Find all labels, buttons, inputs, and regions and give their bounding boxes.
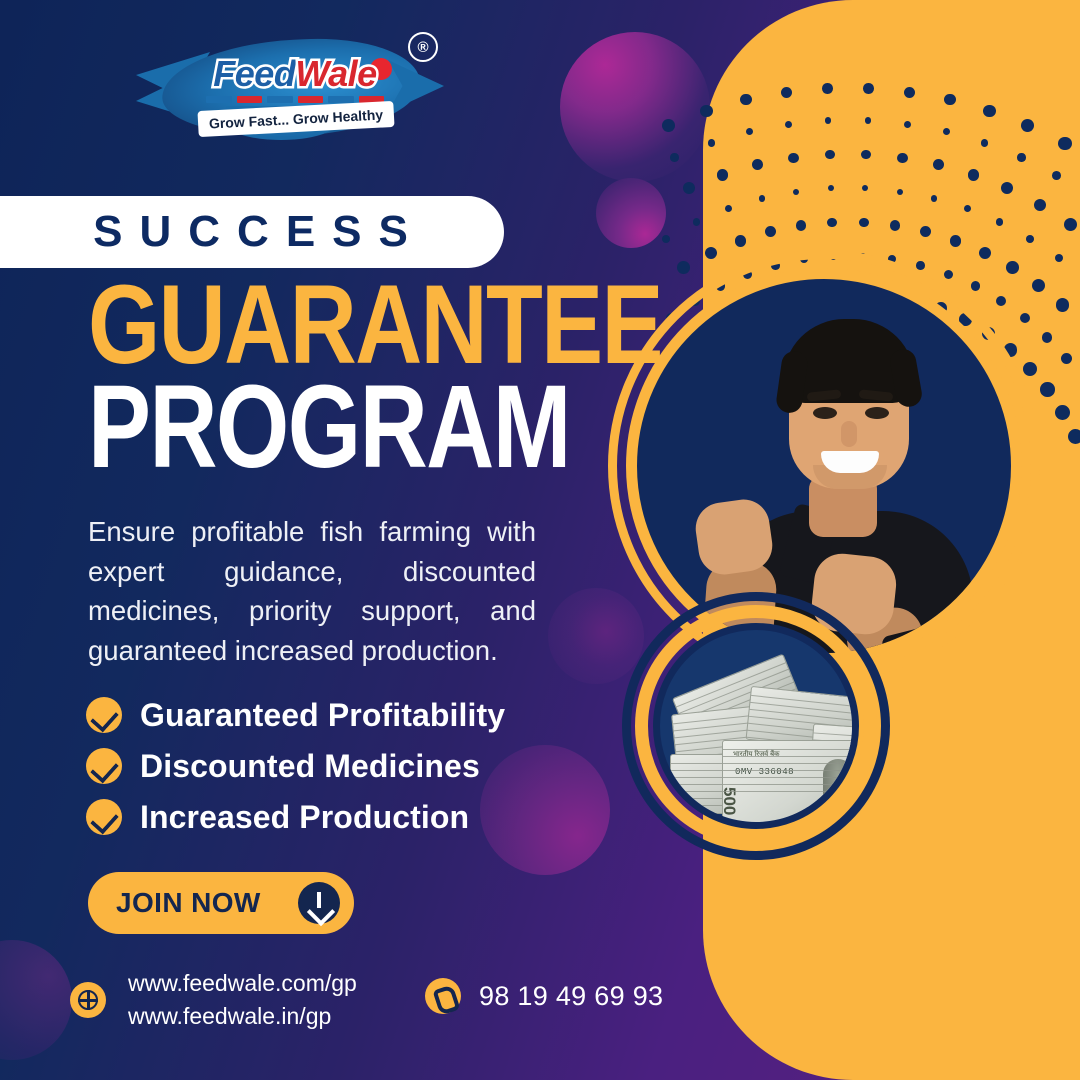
headline-line-2: PROGRAM — [88, 378, 570, 477]
phone-contact: 98 19 49 69 93 — [425, 978, 663, 1014]
list-item-label: Discounted Medicines — [140, 748, 480, 785]
phone-icon — [425, 978, 461, 1014]
join-now-label: JOIN NOW — [116, 887, 298, 919]
globe-icon — [70, 982, 106, 1018]
phone-number[interactable]: 98 19 49 69 93 — [479, 981, 663, 1012]
banknote-serial: 0MV 336048 — [735, 767, 794, 777]
headline-line-1: GUARANTEE — [88, 278, 662, 372]
decorative-circle-small — [596, 178, 666, 248]
list-item: Discounted Medicines — [86, 741, 586, 791]
feedwale-logo: FeedWale Grow Fast... Grow Healthy ® — [140, 30, 430, 142]
decorative-circle-corner — [0, 940, 72, 1060]
body-paragraph: Ensure profitable fish farming with expe… — [88, 512, 536, 670]
money-photo: भारतीय रिज़र्व बैंक 0MV 336048 500 — [622, 592, 890, 860]
promo-poster: भारतीय रिज़र्व बैंक 0MV 336048 500 FeedW… — [0, 0, 1080, 1080]
check-circle-icon — [86, 799, 122, 835]
logo-wordmark: FeedWale — [190, 56, 400, 92]
join-now-button[interactable]: JOIN NOW — [88, 872, 354, 934]
banknote-bank-text: भारतीय रिज़र्व बैंक — [733, 750, 780, 759]
list-item: Increased Production — [86, 792, 586, 842]
check-circle-icon — [86, 748, 122, 784]
check-circle-icon — [86, 697, 122, 733]
eyebrow-text: SUCCESS — [49, 207, 425, 257]
logo-word-feed: Feed — [213, 53, 295, 94]
list-item: Guaranteed Profitability — [86, 690, 586, 740]
money-inner-circle: भारतीय रिज़र्व बैंक 0MV 336048 500 — [653, 623, 859, 829]
logo-word-wale: Wale — [295, 53, 376, 94]
website-contact: www.feedwale.com/gp www.feedwale.in/gp — [70, 970, 357, 1030]
website-urls: www.feedwale.com/gp www.feedwale.in/gp — [128, 970, 357, 1030]
feature-list: Guaranteed Profitability Discounted Medi… — [86, 690, 586, 843]
banknote-front: भारतीय रिज़र्व बैंक 0MV 336048 500 — [722, 740, 859, 828]
registered-trademark-icon: ® — [408, 32, 438, 62]
eyebrow-banner: SUCCESS — [0, 196, 504, 268]
website-url-com[interactable]: www.feedwale.com/gp — [128, 970, 357, 997]
arrow-down-circle-icon — [298, 882, 340, 924]
list-item-label: Increased Production — [140, 799, 469, 836]
banknote-portrait — [823, 759, 853, 813]
website-url-in[interactable]: www.feedwale.in/gp — [128, 1003, 357, 1030]
list-item-label: Guaranteed Profitability — [140, 697, 505, 734]
